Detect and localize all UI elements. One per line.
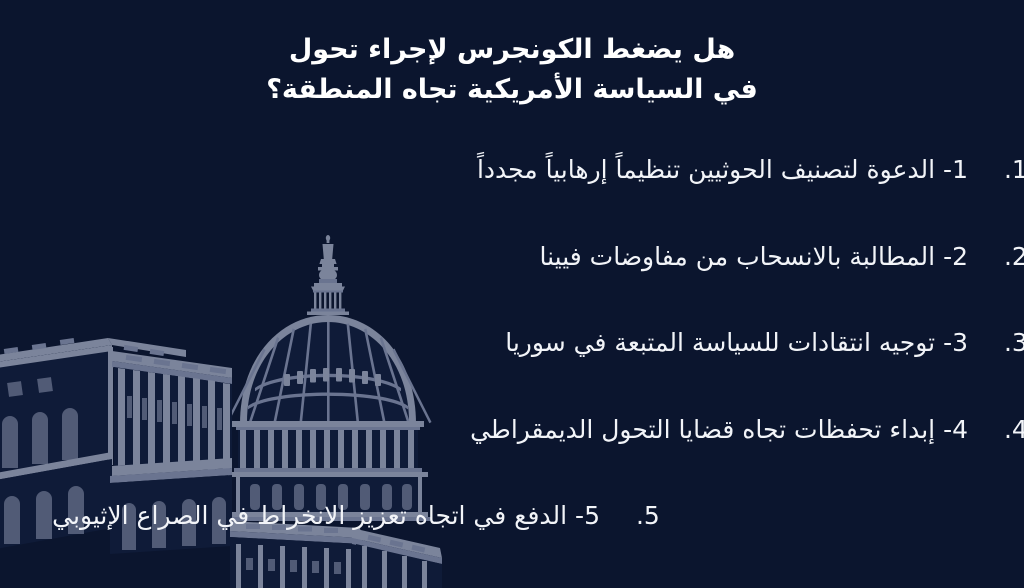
list-item: 4- إبداء تحفظات تجاه قضايا التحول الديمق… <box>40 412 996 448</box>
list-item: 2- المطالبة بالانسحاب من مفاوضات فيينا <box>40 239 996 275</box>
points-list: 1- الدعوة لتصنيف الحوثيين تنظيماً إرهابي… <box>0 152 1024 534</box>
list-item: 3- توجيه انتقادات للسياسة المتبعة في سور… <box>40 325 996 361</box>
infographic-canvas: .lt { fill:#7b849b; } .md { fill:#6a7490… <box>0 0 1024 588</box>
list-item: 1- الدعوة لتصنيف الحوثيين تنظيماً إرهابي… <box>40 152 996 188</box>
page-title-line-1: هل يضغط الكونجرس لإجراء تحول <box>40 30 984 70</box>
page-title: هل يضغط الكونجرس لإجراء تحول في السياسة … <box>0 30 1024 110</box>
list-item: 5- الدفع في اتجاه تعزيز الانخراط في الصر… <box>40 498 628 534</box>
content-layer: هل يضغط الكونجرس لإجراء تحول في السياسة … <box>0 0 1024 588</box>
page-title-line-2: في السياسة الأمريكية تجاه المنطقة؟ <box>40 70 984 110</box>
